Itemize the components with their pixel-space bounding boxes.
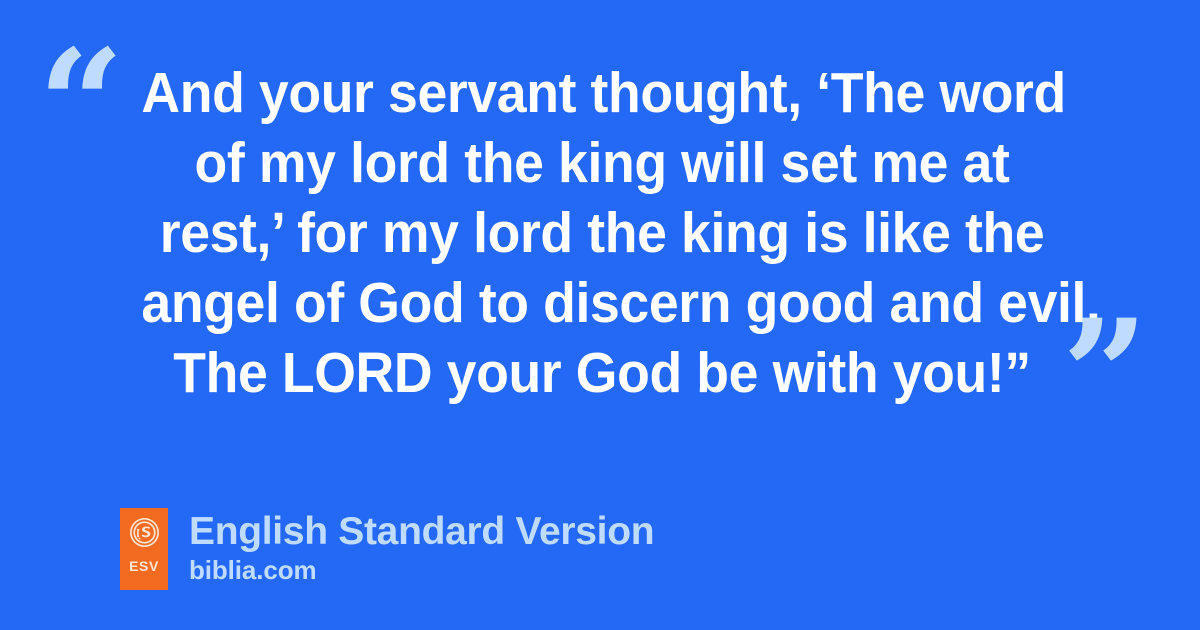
quote-line: The LORD your God be with you!” xyxy=(141,338,1062,408)
quote-text: And your servant thought, ‘The word of m… xyxy=(112,58,1092,408)
quote-line: rest,’ for my lord the king is like the xyxy=(141,198,1062,268)
bible-version-name: English Standard Version xyxy=(189,510,654,554)
attribution-text: English Standard Version biblia.com xyxy=(189,508,654,585)
quote-line: of my lord the king will set me at xyxy=(141,128,1062,198)
esv-seal-icon xyxy=(129,517,160,548)
site-name: biblia.com xyxy=(189,555,654,585)
quote-line: And your servant thought, ‘The word xyxy=(141,58,1062,128)
esv-logo-label: ESV xyxy=(129,559,159,573)
esv-logo: ESV xyxy=(120,508,168,590)
closing-quote-mark: ” xyxy=(1062,300,1148,450)
attribution: ESV English Standard Version biblia.com xyxy=(120,508,654,590)
bible-verse-card: “ And your servant thought, ‘The word of… xyxy=(0,0,1200,630)
quote-line: angel of God to discern good and evil. xyxy=(141,268,1062,338)
quote-block: “ And your servant thought, ‘The word of… xyxy=(0,52,1200,422)
